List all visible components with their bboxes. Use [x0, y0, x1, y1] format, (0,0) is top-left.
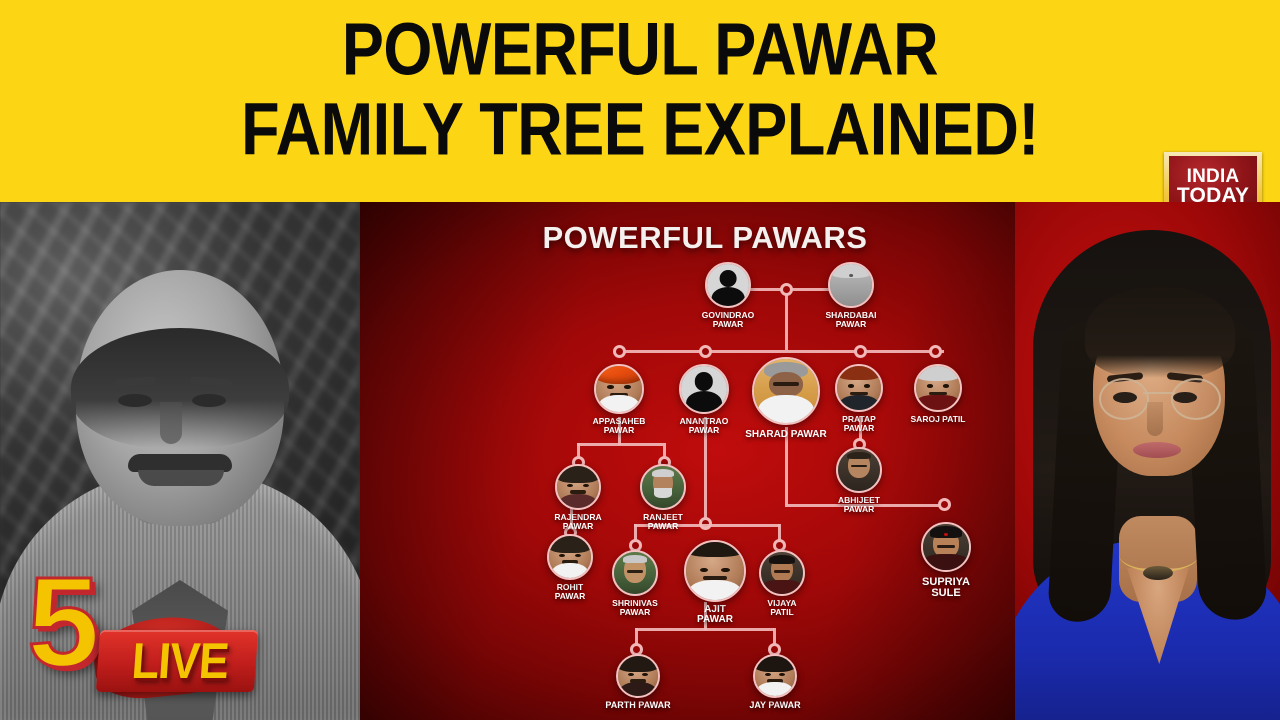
- joint-supriya: [938, 498, 951, 511]
- avatar-sharad: [752, 357, 820, 425]
- joint-pratap: [854, 345, 867, 358]
- edge-sibling-bus: [614, 350, 944, 353]
- five-live-bug: 5 LIVE: [28, 558, 260, 708]
- avatar-anantrao: [679, 364, 729, 414]
- face-abhijeet: [838, 449, 880, 491]
- turban-icon: [594, 364, 644, 384]
- node-label-ranjeet: RANJEET PAWAR: [619, 513, 707, 531]
- live-bug-label: LIVE: [110, 635, 250, 687]
- anchor-lips: [1133, 442, 1181, 458]
- avatar-parth: [616, 654, 660, 698]
- tree-node-jay[interactable]: JAY PAWAR: [734, 654, 816, 710]
- avatar-shrinivas: [612, 550, 658, 596]
- tree-node-supriya[interactable]: SUPRIYA SULE: [903, 522, 989, 600]
- face-shardabai: [830, 264, 872, 306]
- tree-node-appasaheb[interactable]: APPASAHEB PAWAR: [572, 364, 666, 435]
- avatar-supriya: [921, 522, 971, 572]
- headline-line-1: POWERFUL PAWAR: [0, 12, 1280, 88]
- face-saroj: [916, 366, 960, 410]
- tree-node-pratap[interactable]: PRATAP PAWAR: [816, 364, 902, 433]
- node-label-supriya: SUPRIYA SULE: [903, 577, 989, 600]
- tree-node-shrinivas[interactable]: SHRINIVAS PAWAR: [592, 550, 678, 617]
- anchor-video-feed: [1015, 202, 1280, 720]
- face-rohit: [549, 536, 591, 578]
- avatar-saroj: [914, 364, 962, 412]
- node-label-rajendra: RAJENDRA PAWAR: [532, 513, 624, 531]
- avatar-abhijeet: [836, 447, 882, 493]
- node-label-vijaya: VIJAYA PATIL: [740, 599, 824, 617]
- avatar-jay: [753, 654, 797, 698]
- portrait-mouth: [138, 470, 224, 486]
- face-silhouette-icon-anantrao: [681, 366, 727, 412]
- joint-anantrao: [699, 345, 712, 358]
- tree-node-saroj[interactable]: SAROJ PATIL: [892, 364, 984, 424]
- node-label-jay: JAY PAWAR: [734, 701, 816, 710]
- portrait-eye-left: [118, 394, 152, 407]
- avatar-vijaya: [759, 550, 805, 596]
- shirt-appasaheb: [599, 395, 639, 414]
- avatar-appasaheb: [594, 364, 644, 414]
- node-label-saroj: SAROJ PATIL: [892, 415, 984, 424]
- node-label-abhijeet: ABHIJEET PAWAR: [816, 496, 902, 514]
- joint-saroj: [929, 345, 942, 358]
- tree-node-ranjeet[interactable]: RANJEET PAWAR: [619, 464, 707, 531]
- avatar-shardabai: [828, 262, 874, 308]
- edge-ajit-children-bus: [635, 628, 774, 631]
- shirt-pratap: [839, 395, 879, 412]
- anchor-glasses-bridge: [1143, 392, 1175, 394]
- anchor-hair-front: [1085, 286, 1235, 378]
- face-pratap: [837, 366, 881, 410]
- tree-node-parth[interactable]: PARTH PAWAR: [596, 654, 680, 710]
- tree-node-govindrao[interactable]: GOVINDRAO PAWAR: [682, 262, 774, 329]
- avatar-ajit: [684, 540, 746, 602]
- face-appasaheb: [596, 366, 642, 412]
- tree-node-vijaya[interactable]: VIJAYA PATIL: [740, 550, 824, 617]
- face-jay: [755, 656, 795, 696]
- shirt-parth: [620, 682, 657, 698]
- headline-banner: POWERFUL PAWAR FAMILY TREE EXPLAINED!: [0, 0, 1280, 202]
- avatar-govindrao: [705, 262, 751, 308]
- node-label-govindrao: GOVINDRAO PAWAR: [682, 311, 774, 329]
- broadcast-screen: POWERFUL PAWAR FAMILY TREE EXPLAINED! IN…: [0, 0, 1280, 720]
- face-shrinivas: [614, 552, 656, 594]
- face-ajit: [686, 542, 744, 600]
- edge-parents-drop: [785, 294, 788, 350]
- left-portrait-photo: 5 LIVE: [0, 202, 360, 720]
- node-label-appasaheb: APPASAHEB PAWAR: [572, 417, 666, 435]
- hair-saroj: [914, 364, 962, 381]
- shirt-rohit: [552, 563, 589, 580]
- sari-supriya: [923, 554, 969, 572]
- face-supriya: [923, 524, 969, 570]
- tree-node-rajendra[interactable]: RAJENDRA PAWAR: [532, 464, 624, 531]
- edge-appasaheb-bus: [577, 443, 663, 446]
- sari-saroj: [916, 395, 960, 412]
- sari-vijaya: [761, 580, 803, 596]
- bindi-icon: [849, 274, 853, 277]
- portrait-head: [76, 270, 284, 526]
- node-label-parth: PARTH PAWAR: [596, 701, 680, 710]
- face-ranjeet: [642, 466, 684, 508]
- shirt-ajit: [689, 580, 740, 602]
- anchor-pendant: [1143, 566, 1173, 580]
- family-tree-graphic: POWERFUL PAWARS: [360, 202, 1050, 720]
- face-parth: [618, 656, 658, 696]
- face-vijaya: [761, 552, 803, 594]
- shirt-rajendra: [559, 494, 598, 510]
- tree-node-shardabai[interactable]: SHARDABAI PAWAR: [802, 262, 900, 329]
- tree-node-abhijeet[interactable]: ABHIJEET PAWAR: [816, 447, 902, 514]
- avatar-rajendra: [555, 464, 601, 510]
- live-bug-number: 5: [27, 564, 100, 682]
- headline-line-2: FAMILY TREE EXPLAINED!: [0, 92, 1280, 168]
- node-label-shrinivas: SHRINIVAS PAWAR: [592, 599, 678, 617]
- avatar-rohit: [547, 534, 593, 580]
- joint-appasaheb: [613, 345, 626, 358]
- face-silhouette-icon: [707, 264, 749, 306]
- avatar-ranjeet: [640, 464, 686, 510]
- face-sharad: [754, 359, 818, 423]
- face-rajendra: [557, 466, 599, 508]
- portrait-nose: [160, 402, 182, 444]
- portrait-eye-right: [192, 394, 226, 407]
- node-label-pratap: PRATAP PAWAR: [816, 415, 902, 433]
- anchor-nose: [1147, 402, 1163, 436]
- shirt-jay: [757, 682, 792, 698]
- graphic-title: POWERFUL PAWARS: [360, 220, 1050, 256]
- node-label-shardabai: SHARDABAI PAWAR: [802, 311, 900, 329]
- shirt-sharad: [758, 395, 814, 425]
- avatar-pratap: [835, 364, 883, 412]
